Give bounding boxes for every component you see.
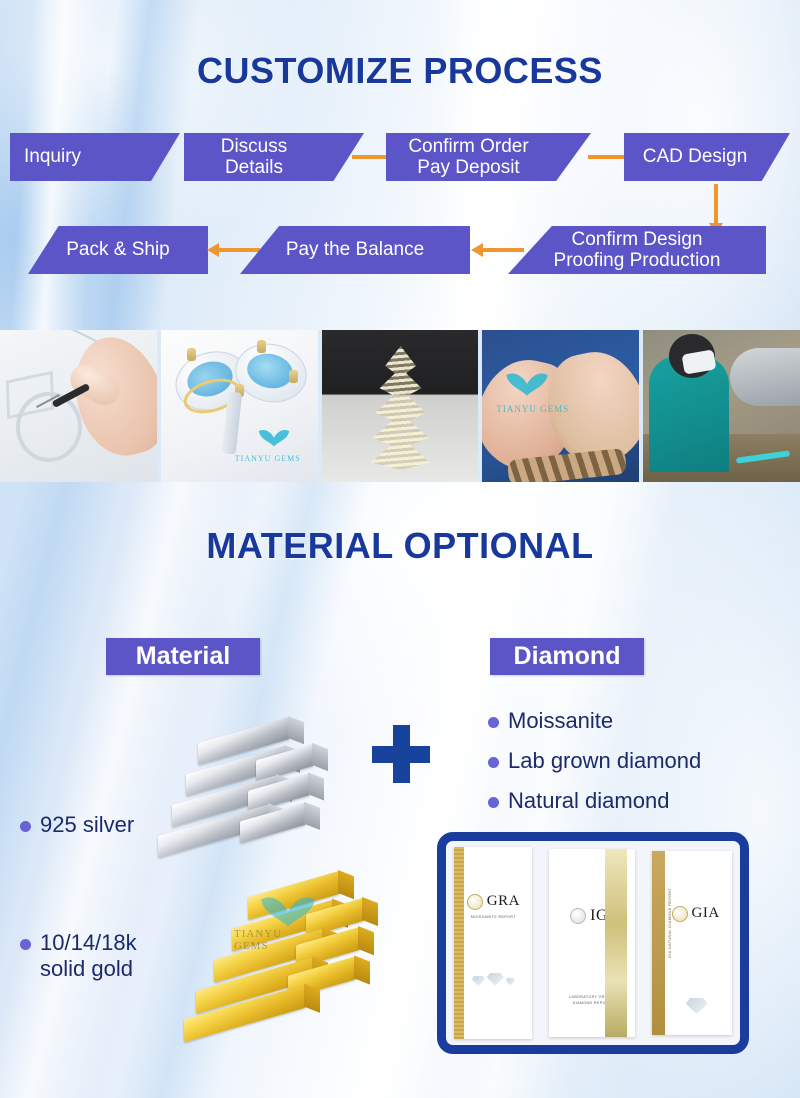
flow-step-pack-ship[interactable]: Pack & Ship [28, 226, 208, 274]
tianyu-butterfly-icon [504, 368, 550, 398]
cert-name: GRA [487, 893, 520, 910]
badge-material-label: Material [136, 642, 230, 671]
flow-step-confirm-order-pay-deposit[interactable]: Confirm Order Pay Deposit [386, 133, 591, 181]
page-title-customize-process: CUSTOMIZE PROCESS [0, 50, 800, 92]
flow-step-cad-design[interactable]: CAD Design [624, 133, 790, 181]
flow-step-label: Confirm Order Pay Deposit [408, 136, 528, 179]
decor-ring-band [16, 392, 82, 462]
diamond-option-moissanite: Moissanite [488, 708, 613, 734]
cert-spine [605, 849, 627, 1037]
decor-prong [257, 340, 266, 353]
tianyu-butterfly-icon [257, 426, 291, 448]
bullet-dot-icon [20, 939, 31, 950]
bars-watermark: TIANYU GEMS [234, 928, 282, 952]
flow-step-label: Inquiry [24, 146, 81, 167]
gem-icon [487, 973, 504, 986]
photo-cad-render: TIANYU GEMS [161, 330, 318, 482]
certificate-gra: GRA MOISSANITE REPORT [454, 847, 532, 1039]
page-title-material-optional: MATERIAL OPTIONAL [0, 525, 800, 567]
photo-resin-casting-tree [322, 330, 479, 482]
cert-vertical-text: GIA NATURAL DIAMOND REPORT [668, 887, 672, 957]
arrow-balance-to-pack [218, 248, 260, 252]
flow-step-line1: Discuss [221, 136, 288, 157]
badge-material: Material [106, 638, 260, 675]
badge-diamond: Diamond [490, 638, 644, 675]
bullet-dot-icon [488, 797, 499, 808]
flow-step-line2: Pay Deposit [417, 157, 519, 178]
badge-diamond-label: Diamond [514, 642, 621, 671]
photo-watermark: TIANYU GEMS [496, 404, 569, 414]
material-option-line2: solid gold [40, 956, 133, 981]
cert-spine [652, 851, 665, 1035]
material-option-label: 925 silver [40, 812, 134, 838]
flow-step-line2: Proofing Production [554, 250, 721, 271]
flow-step-line1: Confirm Order [408, 136, 528, 157]
bullet-dot-icon [20, 821, 31, 832]
diamond-option-natural: Natural diamond [488, 788, 669, 814]
diamond-option-label: Lab grown diamond [508, 748, 701, 774]
decor-polishing-machine [730, 348, 800, 406]
cert-spine [454, 847, 464, 1039]
flow-step-line2: Details [225, 157, 283, 178]
photo-stone-setting: TIANYU GEMS [482, 330, 639, 482]
flow-step-inquiry[interactable]: Inquiry [10, 133, 180, 181]
bullet-dot-icon [488, 757, 499, 768]
diamond-option-label: Natural diamond [508, 788, 669, 814]
cert-gem-cluster [472, 973, 515, 986]
cert-logo-gia: GIA [672, 905, 720, 922]
certificates-frame: GRA MOISSANITE REPORT IGI LABORATORY GRO… [437, 832, 749, 1054]
photo-ring-sketch [0, 330, 157, 482]
diamond-option-lab-grown: Lab grown diamond [488, 748, 701, 774]
diamond-option-label: Moissanite [508, 708, 613, 734]
product-detail-page: CUSTOMIZE PROCESS Inquiry Discuss Detail… [0, 0, 800, 1098]
cert-logo-gra: GRA [467, 893, 520, 910]
cert-subtitle: MOISSANITE REPORT [471, 915, 516, 921]
flow-step-label: Pay the Balance [286, 239, 424, 260]
cert-seal-icon [570, 908, 586, 924]
bullet-dot-icon [488, 717, 499, 728]
decor-prong [289, 370, 298, 383]
flow-step-line1: Confirm Design [572, 229, 703, 250]
flow-step-label: Pack & Ship [66, 239, 170, 260]
flow-step-discuss-details[interactable]: Discuss Details [184, 133, 364, 181]
cert-name: GIA [692, 905, 720, 922]
material-option-label: 10/14/18k solid gold [40, 930, 137, 982]
process-photo-strip: TIANYU GEMS TIANYU GEMS [0, 330, 800, 482]
arrow-cad-to-confirm-design [714, 184, 718, 224]
flow-step-label: CAD Design [643, 146, 748, 167]
material-option-silver: 925 silver [20, 812, 134, 838]
material-option-line1: 10/14/18k [40, 930, 137, 955]
photo-jeweler-bench [643, 330, 800, 482]
decor-prong [187, 348, 196, 361]
cert-seal-icon [467, 894, 483, 910]
gem-icon [686, 998, 708, 1014]
gem-icon [472, 976, 485, 986]
flow-step-label: Confirm Design Proofing Production [554, 229, 721, 272]
tianyu-butterfly-icon [258, 890, 318, 930]
flow-step-confirm-design-proofing[interactable]: Confirm Design Proofing Production [508, 226, 766, 274]
arrow-confirm-design-to-balance [482, 248, 524, 252]
material-option-gold: 10/14/18k solid gold [20, 930, 137, 982]
plus-icon [372, 725, 430, 783]
gem-icon [506, 978, 515, 986]
certificate-gia: GIA NATURAL DIAMOND REPORT GIA [652, 851, 732, 1035]
flow-step-pay-the-balance[interactable]: Pay the Balance [240, 226, 470, 274]
cert-gem [686, 998, 708, 1014]
certificate-igi: IGI LABORATORY GROWN DIAMOND REPORT [549, 849, 635, 1037]
cert-seal-icon [672, 906, 688, 922]
flow-step-label: Discuss Details [221, 136, 288, 179]
decor-casting-tree [366, 346, 436, 470]
arrow-confirm-to-cad [588, 155, 628, 159]
photo-watermark: TIANYU GEMS [235, 454, 301, 463]
